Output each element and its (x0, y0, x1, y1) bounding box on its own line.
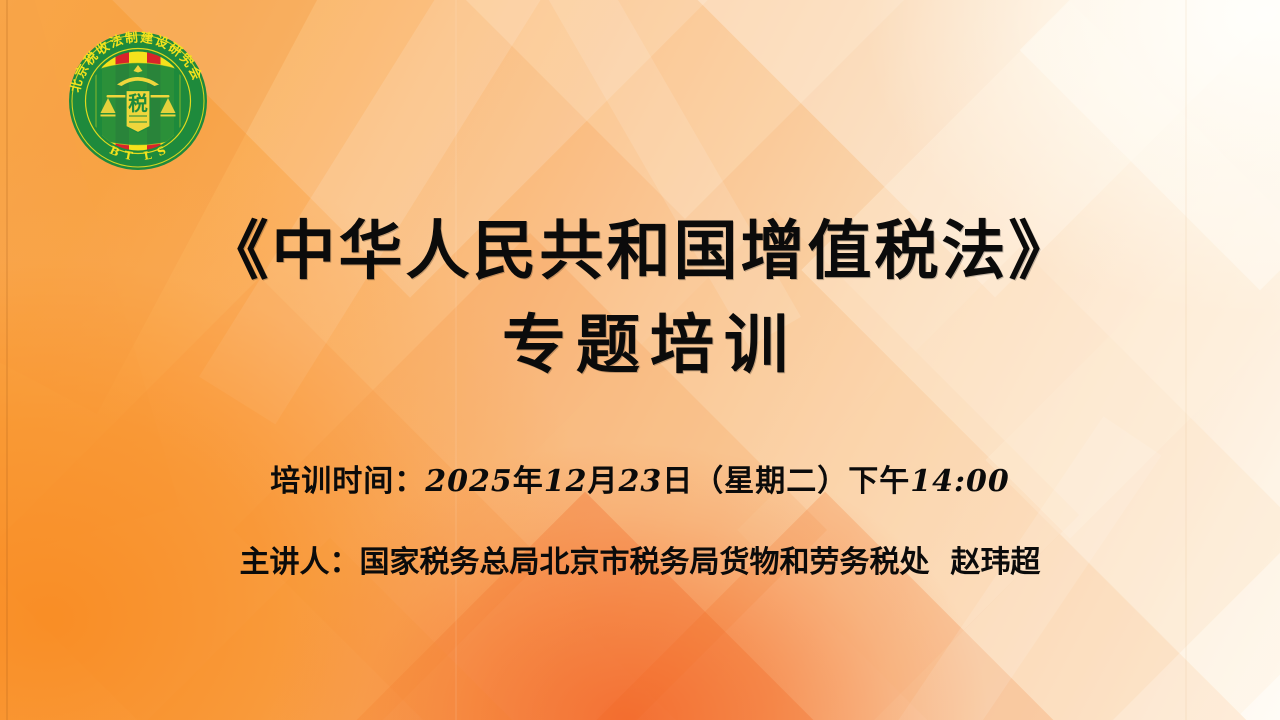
speaker-line: 主讲人：国家税务总局北京市税务局货物和劳务税处 赵玮超 (0, 543, 1280, 583)
training-day: 23 (618, 464, 662, 499)
slide-title-line-2: 专题培训 (0, 308, 1280, 384)
title-slide: 税 北 京 税 收 法 制 建 设 研 究 会 B T L S (0, 0, 1280, 720)
training-weekday: （星期二） (693, 464, 848, 499)
training-year-unit: 年 (513, 464, 544, 499)
training-month: 12 (544, 464, 588, 499)
btls-emblem-icon: 税 北 京 税 收 法 制 建 设 研 究 会 B T L S (63, 26, 213, 176)
svg-text:建: 建 (139, 30, 154, 48)
training-time-label: 培训时间： (270, 464, 425, 499)
training-month-unit: 月 (587, 464, 618, 499)
training-period: 下午 (848, 464, 910, 499)
organization-logo: 税 北 京 税 收 法 制 建 设 研 究 会 B T L S (63, 26, 213, 176)
training-time-line: 培训时间：2025年12月23日（星期二）下午14:00 (0, 462, 1280, 502)
training-year: 2025 (425, 464, 513, 499)
slide-title-line-1: 《中华人民共和国增值税法》 (0, 214, 1280, 290)
training-day-unit: 日 (662, 464, 693, 499)
emblem-inner-field: 税 (96, 47, 180, 155)
training-clock: 14:00 (910, 464, 1010, 499)
speaker-name: 赵玮超 (950, 545, 1040, 580)
speaker-label: 主讲人： (240, 545, 360, 580)
speaker-organization: 国家税务总局北京市税务局货物和劳务税处 (360, 545, 930, 580)
svg-text:制: 制 (124, 29, 139, 46)
speaker-spacer (930, 545, 951, 580)
emblem-center-glyph: 税 (128, 92, 148, 115)
